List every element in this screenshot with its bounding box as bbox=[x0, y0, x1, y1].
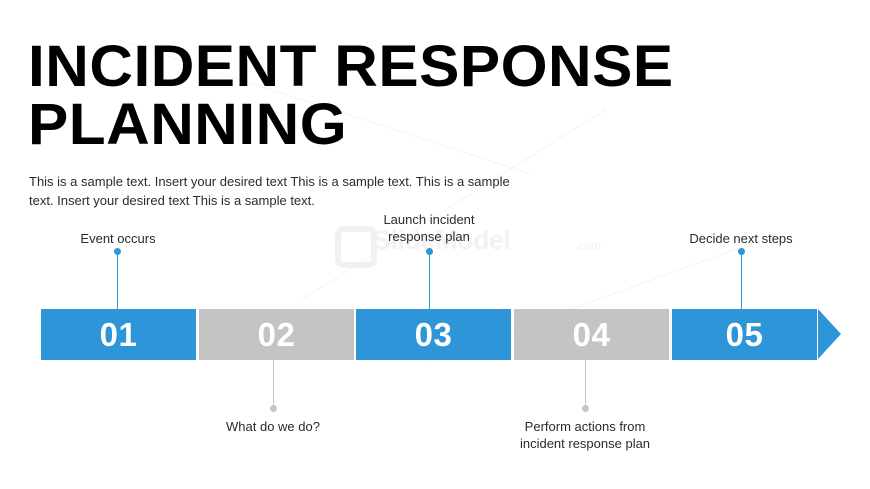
page-title-line-1: INCIDENT RESPONSE bbox=[28, 38, 694, 96]
timeline-segment-number-02: 02 bbox=[258, 318, 296, 351]
timeline-segment-number-03: 03 bbox=[415, 318, 453, 351]
timeline-connector-line-02 bbox=[273, 360, 274, 408]
timeline-connector-dot-04 bbox=[582, 405, 589, 412]
timeline-caption-05: Decide next steps bbox=[641, 230, 841, 247]
timeline-segment-02[interactable]: 02 bbox=[199, 309, 354, 360]
timeline-caption-03: Launch incident response plan bbox=[329, 211, 529, 245]
timeline-caption-01: Event occurs bbox=[18, 230, 218, 247]
timeline-connector-line-03 bbox=[429, 252, 430, 309]
page-title-line-2: PLANNING bbox=[28, 96, 694, 154]
timeline-caption-04: Perform actions from incident response p… bbox=[485, 418, 685, 452]
timeline-segment-01[interactable]: 01 bbox=[41, 309, 196, 360]
timeline-connector-line-01 bbox=[117, 252, 118, 309]
timeline-segment-04[interactable]: 04 bbox=[514, 309, 669, 360]
timeline-segment-number-04: 04 bbox=[573, 318, 611, 351]
timeline-connector-dot-05 bbox=[738, 248, 745, 255]
timeline-segment-number-01: 01 bbox=[100, 318, 138, 351]
timeline-connector-dot-03 bbox=[426, 248, 433, 255]
timeline-caption-02: What do we do? bbox=[173, 418, 373, 435]
timeline-segment-number-05: 05 bbox=[726, 318, 764, 351]
body-paragraph: This is a sample text. Insert your desir… bbox=[29, 172, 519, 210]
timeline-connector-dot-01 bbox=[114, 248, 121, 255]
timeline-segment-03[interactable]: 03 bbox=[356, 309, 511, 360]
timeline-arrow-head-icon bbox=[818, 309, 841, 359]
timeline-connector-line-05 bbox=[741, 252, 742, 309]
timeline-connector-dot-02 bbox=[270, 405, 277, 412]
timeline-segment-05[interactable]: 05 bbox=[672, 309, 817, 360]
timeline-connector-line-04 bbox=[585, 360, 586, 408]
page-title: INCIDENT RESPONSE PLANNING bbox=[28, 38, 668, 154]
